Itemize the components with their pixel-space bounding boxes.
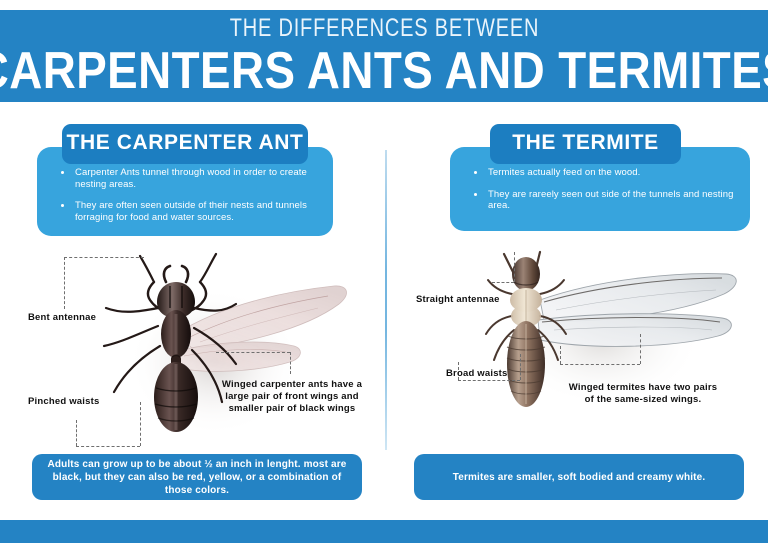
bullet-dot-icon [61, 171, 64, 174]
list-item: Termites actually feed on the wood. [466, 167, 736, 179]
annotation-broad-waists: Broad waists [446, 368, 508, 380]
annotation-winged-carpenter-ants: Winged carpenter ants have a large pair … [212, 379, 372, 415]
infographic-page: THE DIFFERENCES BETWEEN CARPENTERS ANTS … [0, 0, 768, 543]
pinched-waists-leader-line [76, 402, 140, 446]
annotation-straight-antennae: Straight antennae [416, 294, 500, 306]
winged-termite-leader-line [560, 334, 640, 364]
bullet-dot-icon [61, 204, 64, 207]
bullet-text: Termites actually feed on the wood. [488, 167, 640, 178]
header-banner: THE DIFFERENCES BETWEEN CARPENTERS ANTS … [0, 10, 768, 102]
bullet-dot-icon [474, 193, 477, 196]
bullet-text: They are often seen outside of their nes… [75, 200, 307, 223]
carpenter-ant-column: Carpenter Ants tunnel through wood in or… [0, 102, 384, 520]
list-item: They are often seen outside of their nes… [53, 200, 317, 223]
page-title: CARPENTERS ANTS AND TERMITES [0, 45, 768, 97]
header-subtitle: THE DIFFERENCES BETWEEN [229, 16, 539, 41]
annotation-winged-termites: Winged termites have two pairs of the sa… [564, 382, 722, 406]
annotation-pinched-waists: Pinched waists [28, 396, 99, 408]
termite-column: Termites actually feed on the wood. They… [384, 102, 768, 520]
carpenter-ant-size-fact: Adults can grow up to be about ½ an inch… [32, 454, 362, 500]
winged-ant-leader-line [216, 352, 290, 374]
termite-bullet-list: Termites actually feed on the wood. They… [466, 167, 736, 212]
bullet-text: Carpenter Ants tunnel through wood in or… [75, 167, 307, 190]
bullet-text: They are rareely seen out side of the tu… [488, 189, 733, 212]
termite-section-title: THE TERMITE [490, 124, 681, 164]
carpenter-ant-bullet-list: Carpenter Ants tunnel through wood in or… [53, 167, 317, 223]
footer-bar [0, 520, 768, 543]
bullet-dot-icon [474, 171, 477, 174]
carpenter-ant-section-title: THE CARPENTER ANT [62, 124, 308, 164]
bent-antennae-leader-line [64, 257, 144, 309]
termite-size-fact: Termites are smaller, soft bodied and cr… [414, 454, 744, 500]
annotation-bent-antennae: Bent antennae [28, 312, 96, 324]
list-item: They are rareely seen out side of the tu… [466, 189, 736, 212]
list-item: Carpenter Ants tunnel through wood in or… [53, 167, 317, 190]
